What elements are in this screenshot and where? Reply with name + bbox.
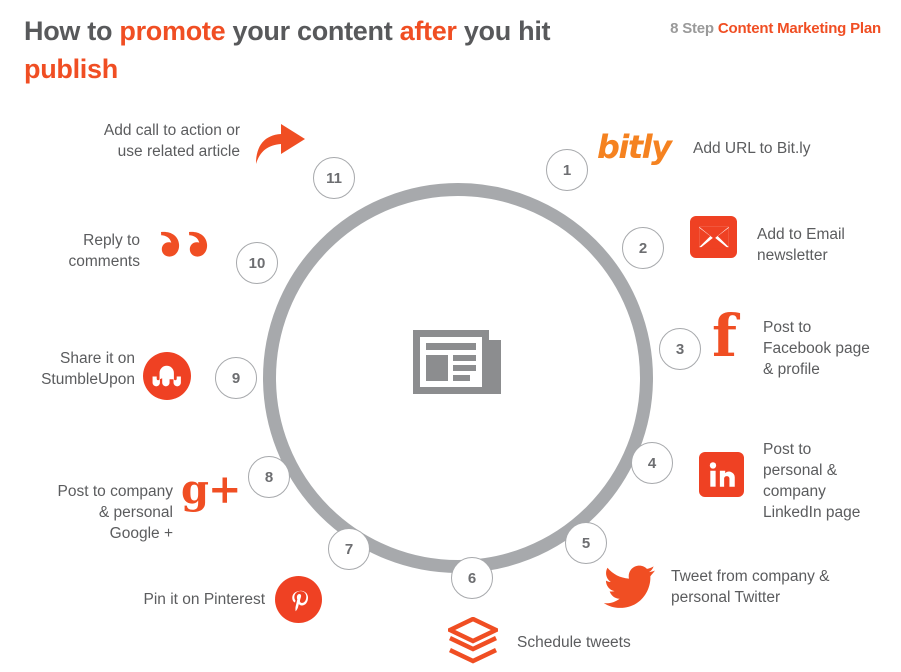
facebook-icon: f [712, 307, 737, 365]
email-envelope-icon [690, 216, 737, 258]
title-segment-2: promote [119, 16, 225, 46]
step-label-8: Post to company & personal Google + [18, 481, 173, 544]
step-label-6: Schedule tweets [517, 632, 717, 653]
step-circle-11[interactable]: 11 [313, 157, 355, 199]
kicker-subtitle: 8 Step Content Marketing Plan [670, 20, 881, 37]
step-circle-3[interactable]: 3 [659, 328, 701, 370]
title-segment-3: your content [225, 16, 399, 46]
kicker-main: Content Marketing Plan [718, 20, 881, 37]
step-circle-7[interactable]: 7 [328, 528, 370, 570]
step-label-5: Tweet from company & personal Twitter [671, 566, 901, 608]
page-title: How to promote your content after you hi… [24, 12, 584, 88]
curved-arrow-icon [253, 117, 307, 167]
kicker-prefix: 8 Step [670, 20, 714, 37]
linkedin-icon [699, 452, 744, 497]
step-circle-8[interactable]: 8 [248, 456, 290, 498]
step-label-2: Add to Email newsletter [757, 224, 897, 266]
twitter-bird-icon [604, 564, 656, 608]
step-label-4: Post to personal & company LinkedIn page [763, 439, 901, 523]
step-label-10: Reply to comments [20, 230, 140, 272]
pinterest-icon [275, 576, 322, 623]
step-label-3: Post to Facebook page & profile [763, 317, 901, 380]
newspaper-icon [411, 326, 505, 398]
quote-marks-icon [159, 228, 215, 268]
title-segment-4: after [400, 16, 457, 46]
title-segment-1: How to [24, 16, 119, 46]
infographic-canvas: How to promote your content after you hi… [0, 0, 901, 672]
title-segment-6: publish [24, 54, 118, 84]
buffer-stack-icon [448, 617, 498, 667]
step-circle-4[interactable]: 4 [631, 442, 673, 484]
stumbleupon-icon [143, 352, 191, 400]
step-circle-6[interactable]: 6 [451, 557, 493, 599]
step-label-7: Pin it on Pinterest [90, 589, 265, 610]
step-circle-5[interactable]: 5 [565, 522, 607, 564]
step-circle-10[interactable]: 10 [236, 242, 278, 284]
step-label-11: Add call to action or use related articl… [45, 120, 240, 162]
bitly-logo-icon: bitly [597, 131, 671, 163]
step-circle-2[interactable]: 2 [622, 227, 664, 269]
step-circle-9[interactable]: 9 [215, 357, 257, 399]
step-label-9: Share it on StumbleUpon [10, 348, 135, 390]
title-segment-5: you hit [457, 16, 551, 46]
step-circle-1[interactable]: 1 [546, 149, 588, 191]
google-plus-icon: g+ [181, 470, 240, 510]
step-label-1: Add URL to Bit.ly [693, 138, 893, 159]
